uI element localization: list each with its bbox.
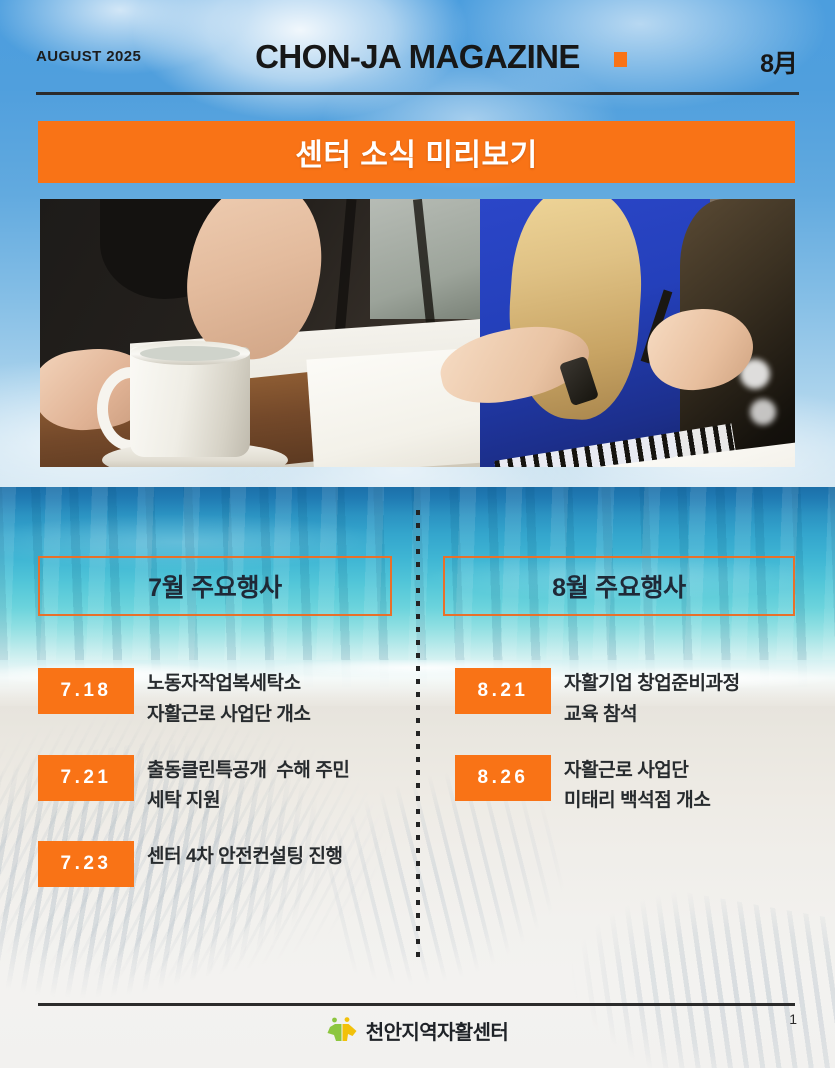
footer: 천안지역자활센터	[0, 1008, 835, 1052]
masthead: AUGUST 2025 CHON-JA MAGAZINE 8月	[0, 38, 835, 84]
photo-cup-interior	[140, 346, 240, 361]
event-date-badge: 7.21	[38, 755, 134, 801]
orange-square-accent-icon	[614, 52, 627, 67]
event-date-badge: 7.23	[38, 841, 134, 887]
event-line: 세탁 지원	[147, 786, 350, 817]
event-item: 8.26 자활근로 사업단 미태리 백석점 개소	[455, 755, 825, 818]
event-line: 자활기업 창업준비과정	[564, 669, 740, 700]
column-august: 8월 주요행사	[443, 556, 795, 616]
event-line: 출동클린특공개 수해 주민	[147, 756, 350, 787]
section-banner: 센터 소식 미리보기	[38, 121, 795, 183]
event-date-badge: 8.21	[455, 668, 551, 714]
column-july: 7월 주요행사	[38, 556, 392, 616]
event-line: 센터 4차 안전컨설팅 진행	[147, 842, 343, 873]
event-line: 교육 참석	[564, 700, 740, 731]
month-badge: 8月	[760, 44, 797, 80]
column-heading-july-label: 7월 주요행사	[148, 568, 282, 604]
organization-logo-icon	[327, 1017, 357, 1043]
photo-bokeh-light-2	[750, 399, 776, 425]
event-item: 7.23 센터 4차 안전컨설팅 진행	[38, 841, 408, 887]
event-description: 자활기업 창업준비과정 교육 참석	[564, 668, 740, 731]
column-heading-august-box: 8월 주요행사	[443, 556, 795, 616]
event-description: 센터 4차 안전컨설팅 진행	[147, 841, 343, 873]
event-line: 노동자작업복세탁소	[147, 669, 310, 700]
magazine-page: AUGUST 2025 CHON-JA MAGAZINE 8月 센터 소식 미리…	[0, 0, 835, 1068]
event-item: 7.21 출동클린특공개 수해 주민 세탁 지원	[38, 755, 408, 818]
column-heading-july-box: 7월 주요행사	[38, 556, 392, 616]
event-line: 미태리 백석점 개소	[564, 786, 710, 817]
event-line: 자활근로 사업단	[564, 756, 710, 787]
column-dotted-divider	[416, 510, 420, 962]
header-divider-rule	[36, 92, 799, 95]
footer-divider-rule	[38, 1003, 795, 1006]
section-banner-title: 센터 소식 미리보기	[295, 130, 537, 174]
hero-photo	[40, 199, 795, 467]
event-item: 7.18 노동자작업복세탁소 자활근로 사업단 개소	[38, 668, 408, 731]
column-heading-august-label: 8월 주요행사	[552, 568, 686, 604]
event-list-august: 8.21 자활기업 창업준비과정 교육 참석 8.26 자활근로 사업단 미태리…	[455, 668, 825, 841]
event-item: 8.21 자활기업 창업준비과정 교육 참석	[455, 668, 825, 731]
organization-name: 천안지역자활센터	[366, 1016, 508, 1045]
magazine-title: CHON-JA MAGAZINE	[0, 38, 835, 76]
event-line: 자활근로 사업단 개소	[147, 700, 310, 731]
event-description: 자활근로 사업단 미태리 백석점 개소	[564, 755, 710, 818]
page-number: 1	[789, 1011, 797, 1027]
event-date-badge: 8.26	[455, 755, 551, 801]
event-date-badge: 7.18	[38, 668, 134, 714]
event-description: 노동자작업복세탁소 자활근로 사업단 개소	[147, 668, 310, 731]
event-list-july: 7.18 노동자작업복세탁소 자활근로 사업단 개소 7.21 출동클린특공개 …	[38, 668, 408, 911]
event-description: 출동클린특공개 수해 주민 세탁 지원	[147, 755, 350, 818]
